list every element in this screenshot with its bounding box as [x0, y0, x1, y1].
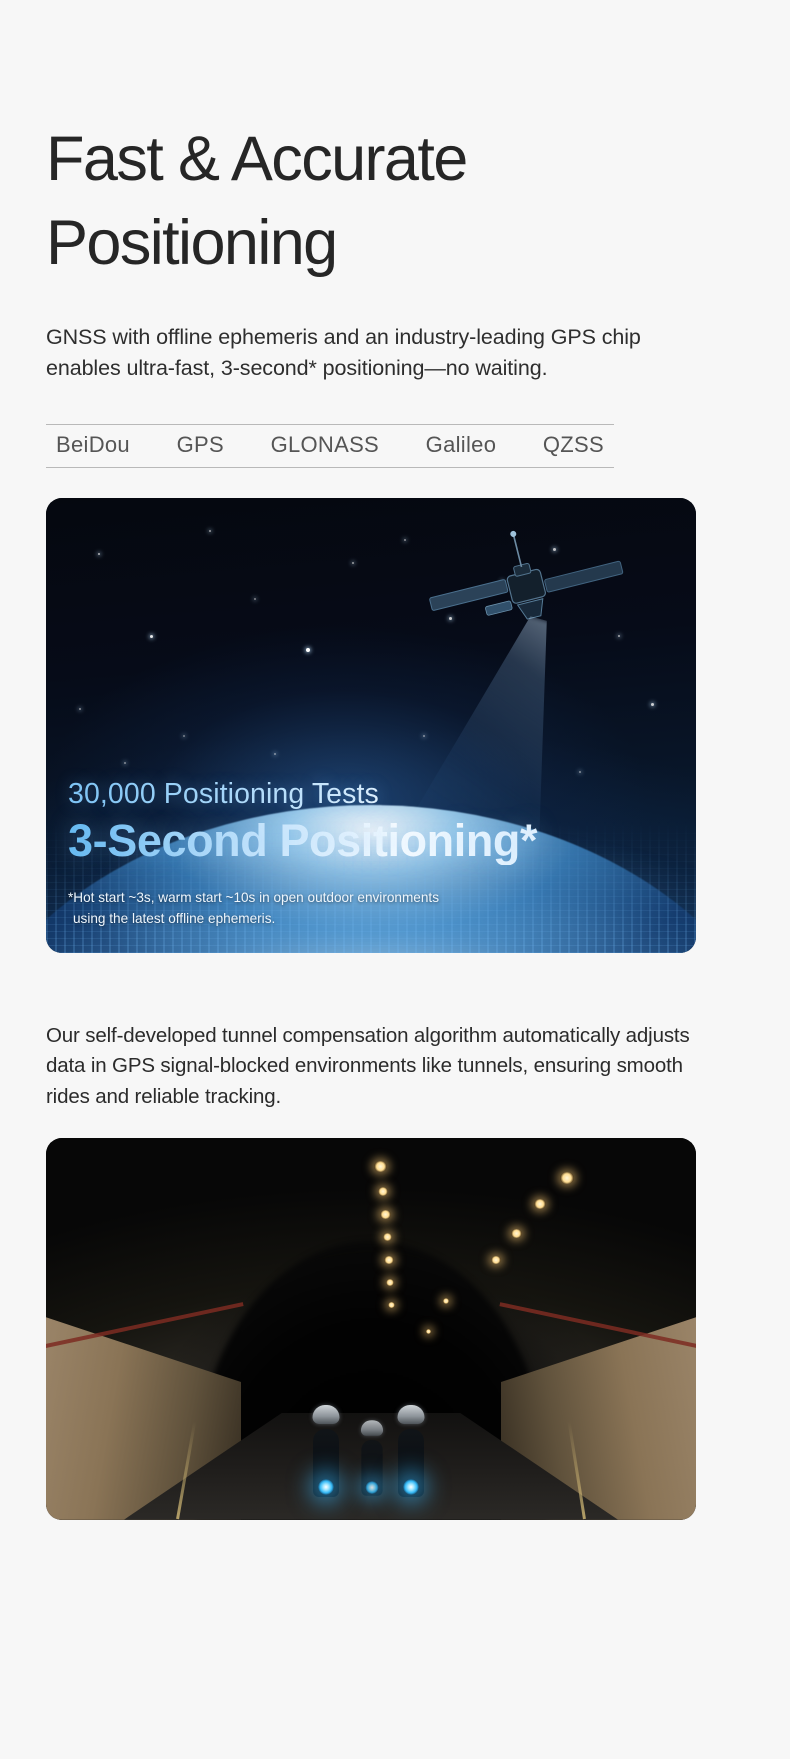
cyclist: [355, 1421, 388, 1496]
star-decoration: [423, 735, 425, 737]
tunnel-lamp: [388, 1302, 395, 1308]
tunnel-lamp: [378, 1187, 388, 1196]
bike-headlight: [318, 1479, 334, 1495]
bike-headlight: [365, 1481, 378, 1494]
star-decoration: [404, 539, 406, 541]
hero-text-overlay: 30,000 Positioning Tests 3-Second Positi…: [68, 778, 678, 930]
tunnel-lamp: [386, 1279, 394, 1286]
tunnel-lamp: [560, 1172, 574, 1184]
page-subtitle: GNSS with offline ephemeris and an indus…: [46, 322, 706, 385]
satellite-hero-image: 30,000 Positioning Tests 3-Second Positi…: [46, 498, 696, 953]
star-decoration: [651, 703, 654, 706]
gnss-item-galileo: Galileo: [426, 432, 497, 458]
gnss-item-glonass: GLONASS: [271, 432, 379, 458]
tunnel-scene: [46, 1138, 696, 1520]
bike-headlight: [403, 1479, 419, 1495]
hero-footnote: *Hot start ~3s, warm start ~10s in open …: [68, 887, 678, 929]
positioning-tests-stat: 30,000 Positioning Tests: [68, 778, 678, 811]
star-decoration: [79, 708, 81, 710]
cyclist-helmet: [313, 1405, 340, 1424]
three-second-positioning-claim: 3-Second Positioning*: [68, 817, 678, 866]
gnss-item-qzss: QZSS: [543, 432, 604, 458]
gnss-item-beidou: BeiDou: [56, 432, 130, 458]
star-decoration: [98, 553, 100, 555]
cyclist: [391, 1405, 431, 1497]
tunnel-lamp: [374, 1161, 387, 1172]
star-decoration: [209, 530, 211, 532]
page-title: Fast & Accurate Positioning: [46, 0, 744, 286]
page-title-line-1: Fast & Accurate: [46, 124, 467, 194]
hero-footnote-line-2: using the latest offline ephemeris.: [68, 908, 678, 929]
page-title-line-2: Positioning: [46, 208, 337, 278]
gnss-item-gps: GPS: [177, 432, 224, 458]
gnss-constellation-list: BeiDou GPS GLONASS Galileo QZSS: [46, 424, 614, 468]
star-decoration: [352, 562, 354, 564]
star-decoration: [150, 635, 153, 638]
tunnel-lamp: [426, 1329, 431, 1334]
positioning-feature-page: Fast & Accurate Positioning GNSS with of…: [0, 0, 790, 1759]
satellite-icon: [424, 522, 634, 672]
star-decoration: [274, 753, 276, 755]
star-decoration: [183, 735, 185, 737]
hero-footnote-line-1: *Hot start ~3s, warm start ~10s in open …: [68, 890, 439, 905]
tunnel-lamp: [443, 1298, 449, 1304]
tunnel-lamp: [534, 1199, 546, 1209]
tunnel-photo: [46, 1138, 696, 1520]
cyclist-helmet: [360, 1421, 382, 1437]
cyclist: [306, 1405, 346, 1497]
tunnel-compensation-description: Our self-developed tunnel compensation a…: [46, 1021, 726, 1111]
tunnel-lamp: [383, 1233, 392, 1241]
cyclist-helmet: [397, 1405, 424, 1424]
